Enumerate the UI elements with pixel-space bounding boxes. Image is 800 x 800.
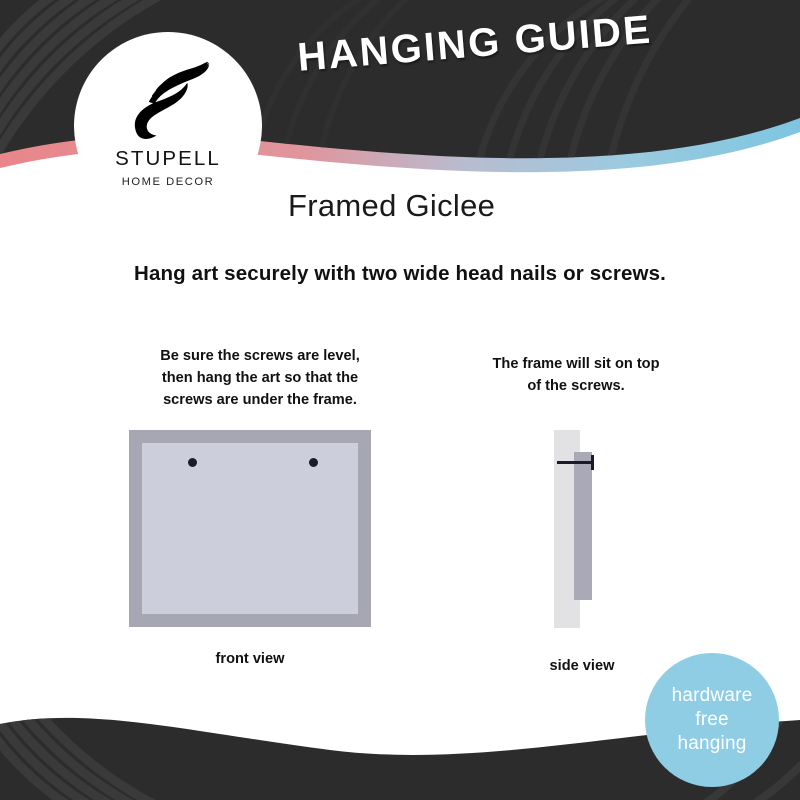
brand-tagline: HOME DECOR — [122, 177, 215, 188]
stupell-swoosh-icon — [120, 52, 216, 148]
brand-logo-badge: STUPELL HOME DECOR — [74, 32, 262, 220]
hardware-free-badge: hardware free hanging — [645, 653, 779, 787]
side-view-diagram — [546, 430, 618, 628]
screw-dot-right — [309, 458, 318, 467]
caption-line: then hang the art so that the — [112, 367, 408, 389]
caption-line: of the screws. — [452, 375, 700, 397]
product-name: Framed Giclee — [288, 188, 495, 224]
frame-mat — [142, 443, 358, 614]
caption-line: Be sure the screws are level, — [112, 345, 408, 367]
front-view-diagram — [129, 430, 371, 627]
main-instruction: Hang art securely with two wide head nai… — [0, 262, 800, 286]
caption-line: The frame will sit on top — [452, 353, 700, 375]
screw-dot-left — [188, 458, 197, 467]
frame-profile — [574, 452, 592, 600]
badge-line: hardware — [672, 684, 753, 708]
front-view-label: front view — [129, 651, 371, 667]
side-view-label: side view — [508, 658, 656, 674]
hanging-guide-infographic: HANGING GUIDE STUPELL HOME DECOR Framed … — [0, 0, 800, 800]
badge-line: free — [695, 708, 729, 732]
screw-head-icon — [591, 455, 594, 470]
screw-shaft-icon — [557, 461, 594, 464]
front-view-caption: Be sure the screws are level, then hang … — [112, 345, 408, 412]
side-view-caption: The frame will sit on top of the screws. — [452, 353, 700, 397]
caption-line: screws are under the frame. — [112, 389, 408, 411]
brand-name: STUPELL — [115, 149, 221, 170]
badge-line: hanging — [677, 732, 746, 756]
